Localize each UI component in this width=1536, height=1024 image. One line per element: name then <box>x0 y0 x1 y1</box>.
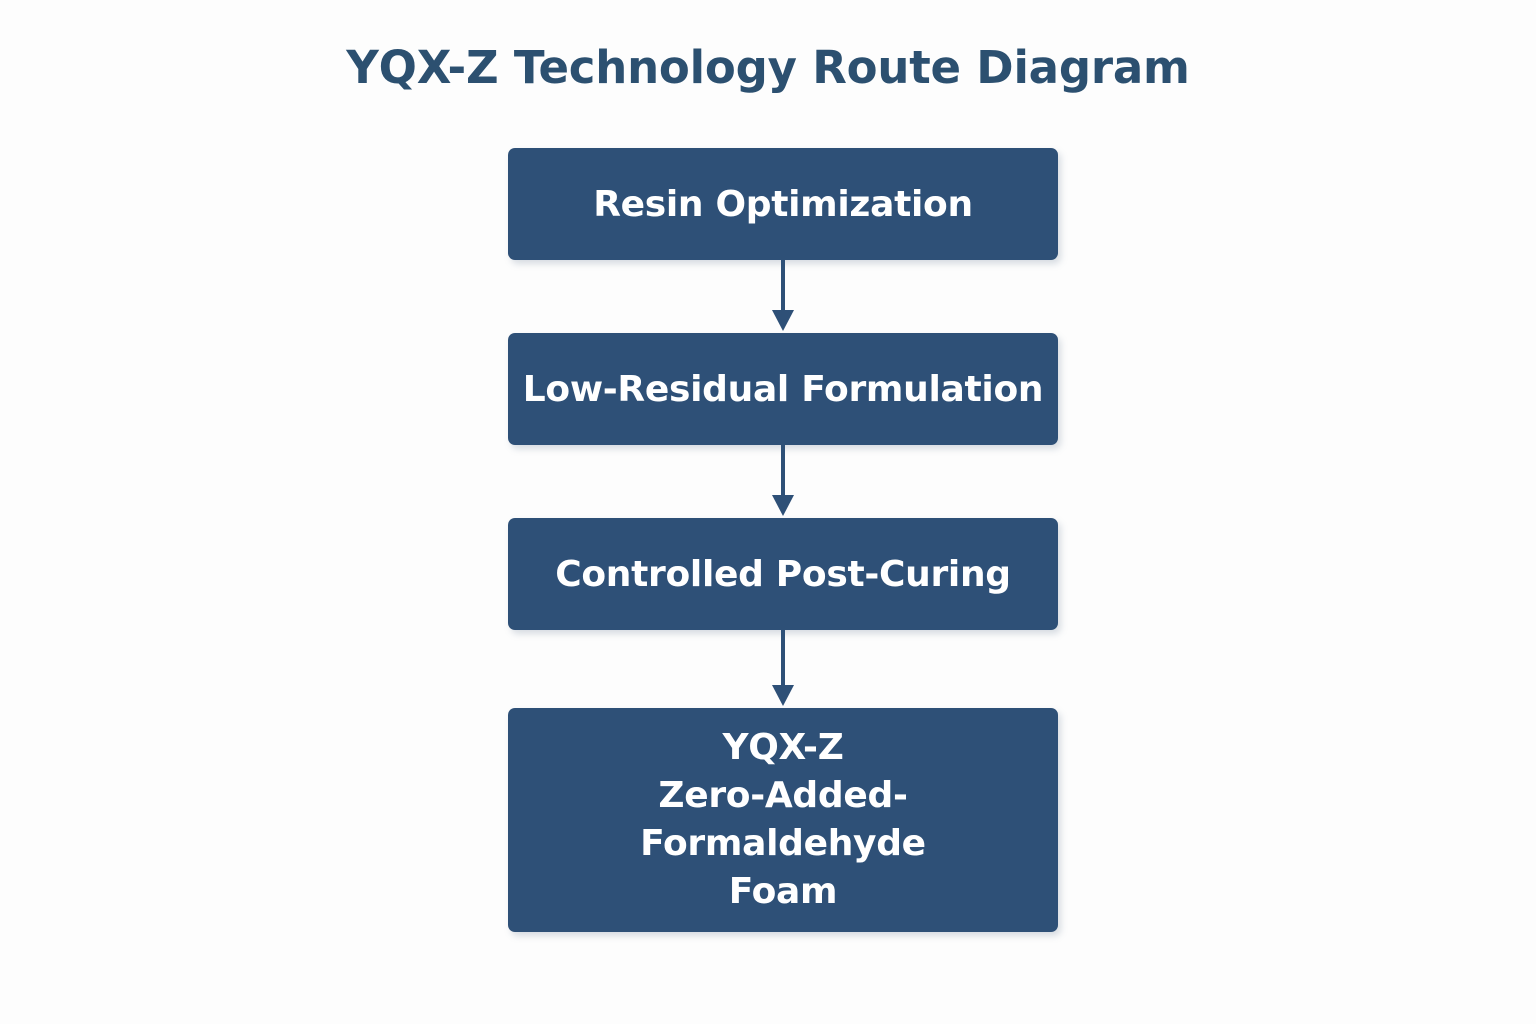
down-arrow-icon <box>772 495 794 516</box>
flow-node-label: Resin Optimization <box>593 184 973 225</box>
flow-node-yqx-z-foam[interactable]: YQX-Z Zero-Added-Formaldehyde Foam <box>508 708 1058 932</box>
down-arrow-icon <box>772 685 794 706</box>
flow-node-label-line-2: Zero-Added-Formaldehyde <box>520 772 1046 868</box>
arrow-line <box>781 260 785 312</box>
flow-node-resin-optimization[interactable]: Resin Optimization <box>508 148 1058 260</box>
flowchart-container: Resin Optimization Low-Residual Formulat… <box>508 148 1058 932</box>
flow-connector-1 <box>508 260 1058 333</box>
flow-node-label-group: YQX-Z Zero-Added-Formaldehyde Foam <box>520 724 1046 917</box>
flow-node-low-residual-formulation[interactable]: Low-Residual Formulation <box>508 333 1058 445</box>
diagram-canvas: YQX-Z Technology Route Diagram Resin Opt… <box>0 0 1536 1024</box>
flow-connector-2 <box>508 445 1058 518</box>
flow-connector-3 <box>508 630 1058 708</box>
flow-node-label: Low-Residual Formulation <box>523 369 1043 410</box>
flow-node-label-line-3: Foam <box>520 868 1046 916</box>
flow-node-label: Controlled Post-Curing <box>555 554 1011 595</box>
flow-node-label-line-1: YQX-Z <box>520 724 1046 772</box>
page-title: YQX-Z Technology Route Diagram <box>0 38 1536 98</box>
flow-node-controlled-post-curing[interactable]: Controlled Post-Curing <box>508 518 1058 630</box>
down-arrow-icon <box>772 310 794 331</box>
arrow-line <box>781 445 785 497</box>
arrow-line <box>781 630 785 687</box>
